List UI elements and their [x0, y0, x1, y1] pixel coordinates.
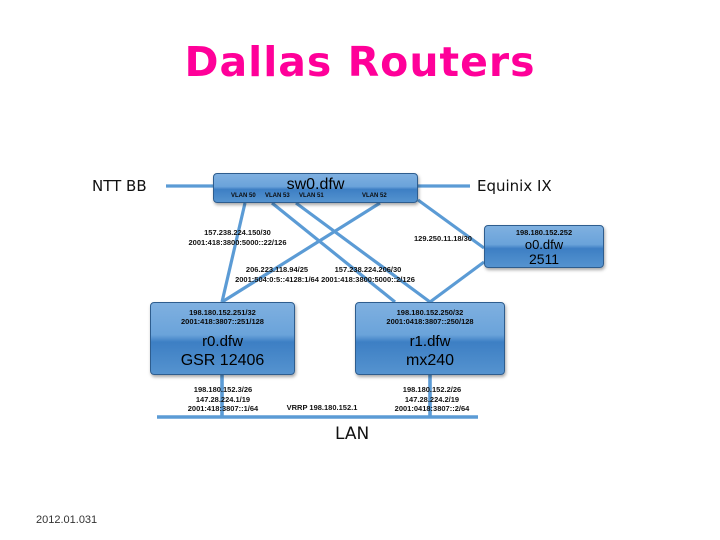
- link-oob-to-r1: [430, 262, 484, 302]
- node-o0-name: o0.dfw: [485, 237, 603, 252]
- link-vlan53-to-r1: [272, 203, 395, 302]
- link-label-ntt-r0: 157.238.224.150/30 2001:418:3800:5000::2…: [165, 228, 310, 247]
- link-label-equinix-line1: 206.223.118.94/25: [228, 265, 326, 275]
- vlan-label-row: VLAN 50 VLAN 53 VLAN 51 VLAN 52: [214, 193, 417, 202]
- vlan-label-51: VLAN 51: [299, 193, 324, 199]
- node-o0-address: 198.180.152.252: [485, 228, 603, 237]
- node-r0-name: r0.dfw: [151, 333, 294, 351]
- vlan-label-53: VLAN 53: [265, 193, 290, 199]
- node-o0-dfw[interactable]: 198.180.152.252 o0.dfw 2511: [484, 225, 604, 268]
- slide-footer: 2012.01.031: [36, 514, 97, 526]
- lan-label-r0-line1: 198.180.152.3/26: [158, 385, 288, 395]
- node-r1-model: mx240: [356, 351, 504, 370]
- node-sw0-dfw[interactable]: sw0.dfw VLAN 50 VLAN 53 VLAN 51 VLAN 52: [213, 173, 418, 203]
- node-r1-name: r1.dfw: [356, 333, 504, 351]
- label-equinix-ix: Equinix IX: [477, 177, 552, 195]
- lan-label-vrrp: VRRP 198.180.152.1: [270, 403, 374, 413]
- label-ntt-bb: NTT BB: [92, 177, 147, 195]
- label-lan: LAN: [335, 424, 369, 444]
- node-r1-address-v4: 198.180.152.250/32: [356, 308, 504, 317]
- node-o0-model: 2511: [485, 252, 603, 267]
- link-label-ntt-r1-line1: 157.238.224.206/30: [316, 265, 420, 275]
- vlan-label-52: VLAN 52: [362, 193, 387, 199]
- node-r0-address-v4: 198.180.152.251/32: [151, 308, 294, 317]
- lan-label-r0: 198.180.152.3/26 147.28.224.1/19 2001:41…: [158, 385, 288, 414]
- node-r0-address-v6: 2001:418:3807::251/128: [151, 317, 294, 326]
- link-label-ntt-r1: 157.238.224.206/30 2001:418:3800:5000::2…: [316, 265, 420, 284]
- link-label-ntt-r1-line2: 2001:418:3800:5000::2/126: [316, 275, 420, 285]
- link-label-ntt-r0-line1: 157.238.224.150/30: [165, 228, 310, 238]
- lan-label-r1-line2: 147.28.224.2/19: [365, 395, 499, 405]
- lan-label-r1-line1: 198.180.152.2/26: [365, 385, 499, 395]
- lan-label-r1: 198.180.152.2/26 147.28.224.2/19 2001:04…: [365, 385, 499, 414]
- link-label-equinix-line2: 2001:504:0:5::4128:1/64: [228, 275, 326, 285]
- link-label-ntt-r0-line2: 2001:418:3800:5000::22/126: [165, 238, 310, 248]
- node-r1-dfw[interactable]: 198.180.152.250/32 2001:0418:3807::250/1…: [355, 302, 505, 375]
- link-label-oob-line1: 129.250.11.18/30: [398, 234, 488, 244]
- lan-label-r0-line3: 2001:418:3807::1/64: [158, 404, 288, 414]
- node-sw0-name: sw0.dfw: [214, 176, 417, 193]
- lan-label-r0-line2: 147.28.224.1/19: [158, 395, 288, 405]
- link-label-oob: 129.250.11.18/30: [398, 234, 488, 244]
- link-vlan52-to-r0: [222, 203, 380, 302]
- link-vlan51-to-r1: [296, 203, 430, 302]
- node-r0-model: GSR 12406: [151, 351, 294, 370]
- link-vlan50-to-r0: [222, 203, 245, 302]
- vlan-label-50: VLAN 50: [231, 193, 256, 199]
- node-r1-address-v6: 2001:0418:3807::250/128: [356, 317, 504, 326]
- node-r0-dfw[interactable]: 198.180.152.251/32 2001:418:3807::251/12…: [150, 302, 295, 375]
- link-label-equinix: 206.223.118.94/25 2001:504:0:5::4128:1/6…: [228, 265, 326, 284]
- slide-canvas: Dallas Routers NTT BB: [0, 0, 720, 540]
- lan-label-r1-line3: 2001:0418:3807::2/64: [365, 404, 499, 414]
